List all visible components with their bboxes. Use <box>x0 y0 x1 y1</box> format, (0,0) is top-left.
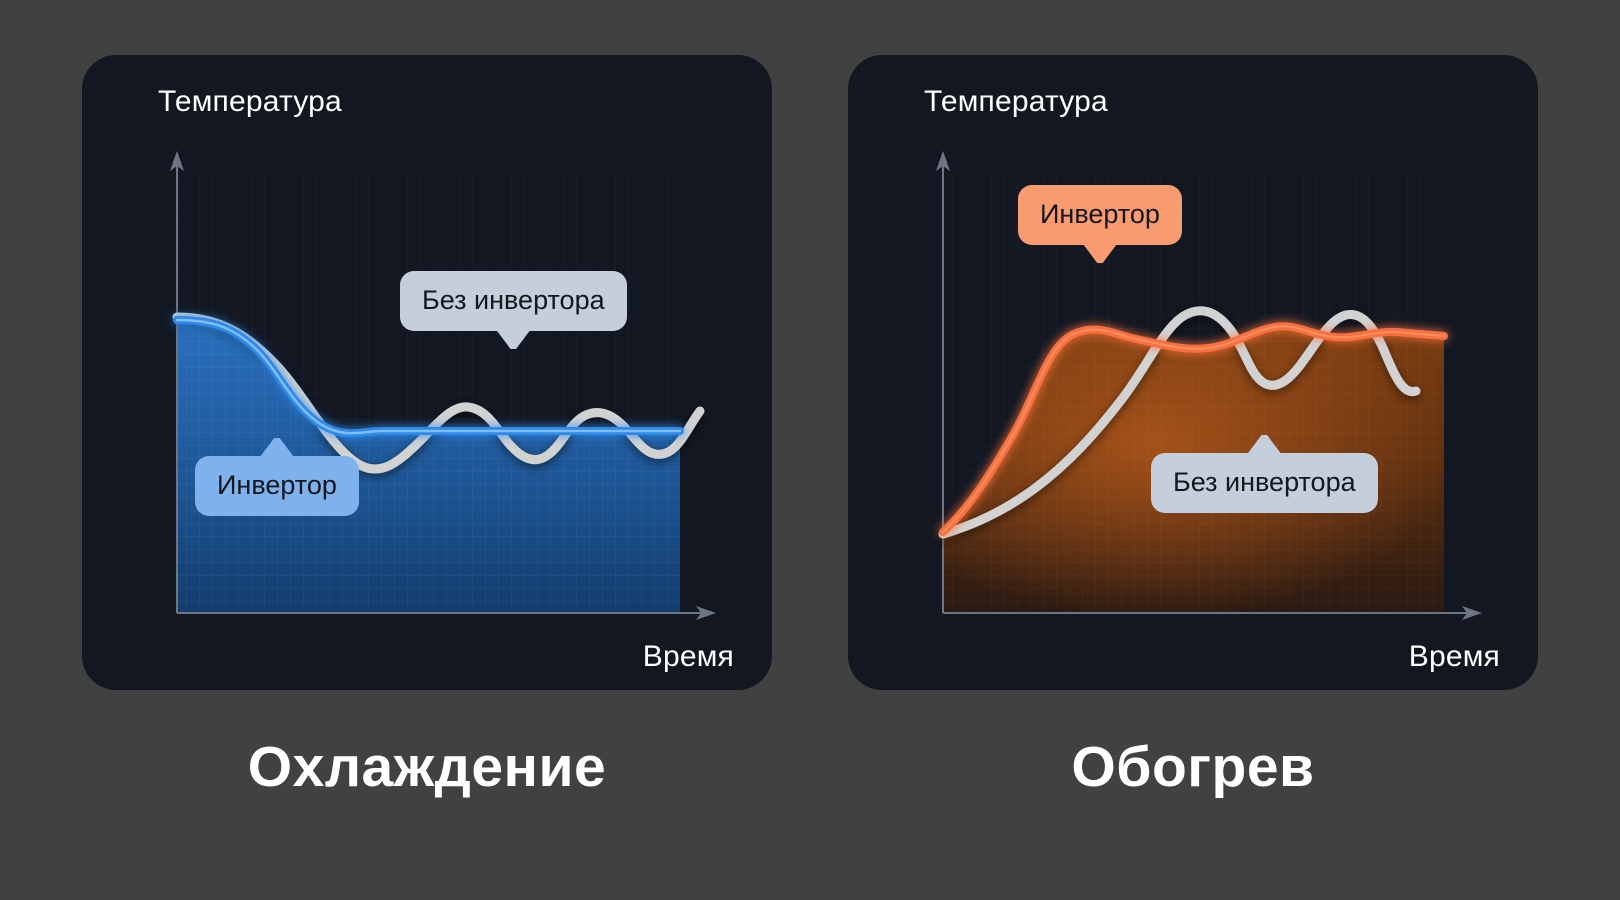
callout-label: Инвертор <box>1040 199 1160 229</box>
panels-row: Температура Время Без инвертора Инвертор… <box>0 0 1620 900</box>
panel-caption-heating: Обогрев <box>1071 734 1314 800</box>
callout-label: Без инвертора <box>422 285 605 315</box>
callout-inverter-cooling[interactable]: Инвертор <box>195 456 359 516</box>
infographic-stage: Температура Время Без инвертора Инвертор… <box>0 0 1620 900</box>
callout-inverter-heating[interactable]: Инвертор <box>1018 185 1182 245</box>
panel-heating: Температура Время Инвертор Без инвертора… <box>848 55 1538 800</box>
callout-no-inverter-cooling[interactable]: Без инвертора <box>400 271 627 331</box>
callout-no-inverter-heating[interactable]: Без инвертора <box>1151 453 1378 513</box>
callout-label: Инвертор <box>217 470 337 500</box>
x-axis-label-heating: Время <box>1409 640 1500 674</box>
chart-cooling <box>82 55 772 690</box>
panel-cooling: Температура Время Без инвертора Инвертор… <box>82 55 772 800</box>
callout-label: Без инвертора <box>1173 467 1356 497</box>
chart-card-heating: Температура Время Инвертор Без инвертора <box>848 55 1538 690</box>
y-axis-label-heating: Температура <box>924 85 1108 119</box>
x-axis-label-cooling: Время <box>643 640 734 674</box>
y-axis-label-cooling: Температура <box>158 85 342 119</box>
panel-caption-cooling: Охлаждение <box>248 734 606 800</box>
chart-card-cooling: Температура Время Без инвертора Инвертор <box>82 55 772 690</box>
chart-heating <box>848 55 1538 690</box>
